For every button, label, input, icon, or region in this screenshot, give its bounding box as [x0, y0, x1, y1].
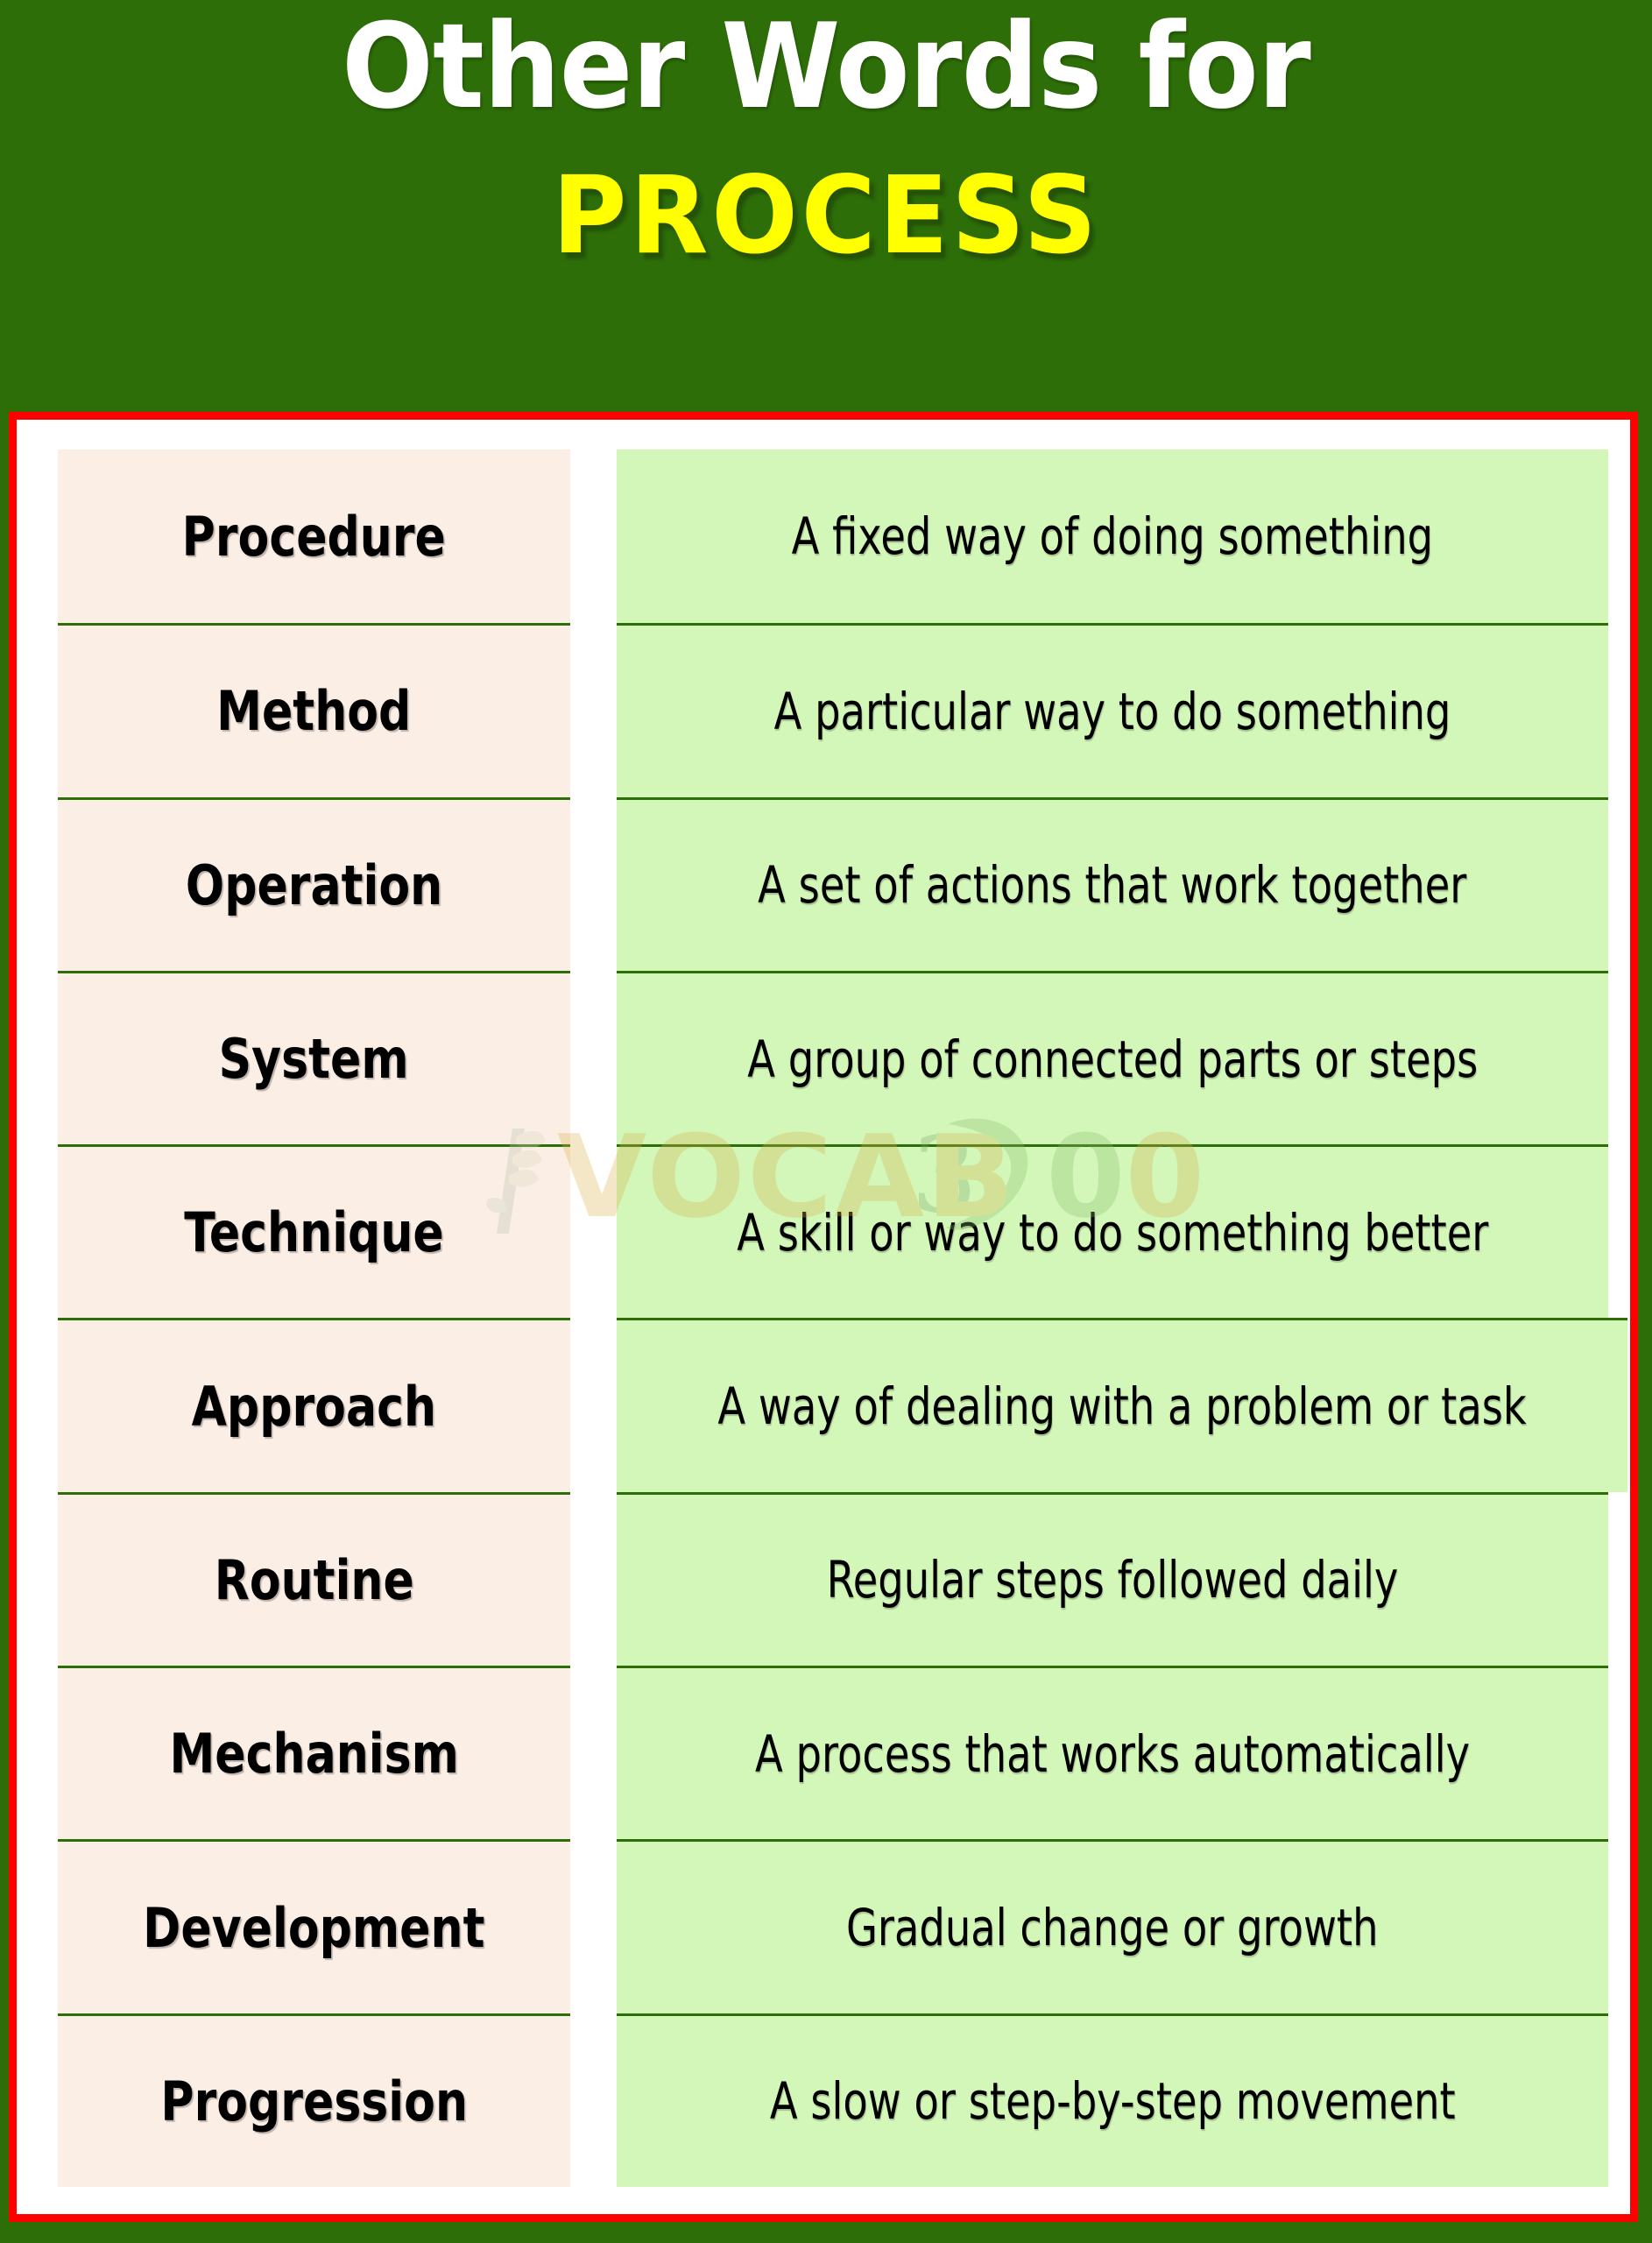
word-label: Procedure	[182, 505, 446, 569]
definition-cell: A way of dealing with a problem or task	[617, 1318, 1627, 1491]
word-cell: System	[58, 971, 570, 1144]
definition-cell: A skill or way to do something better	[617, 1144, 1608, 1318]
word-label: Progression	[160, 2070, 468, 2133]
column-gap	[570, 1318, 617, 1491]
definition-label: A fixed way of doing something	[792, 506, 1434, 566]
table-row: Development Gradual change or growth	[58, 1839, 1608, 2013]
word-cell: Technique	[58, 1144, 570, 1318]
definition-label: A set of actions that work together	[758, 855, 1466, 915]
definition-cell: A fixed way of doing something	[617, 449, 1608, 623]
word-cell: Progression	[58, 2013, 570, 2187]
word-label: Method	[216, 679, 411, 743]
word-cell: Development	[58, 1839, 570, 2013]
table-row: Approach A way of dealing with a problem…	[58, 1318, 1608, 1491]
word-cell: Procedure	[58, 449, 570, 623]
definition-label: A group of connected parts or steps	[747, 1030, 1478, 1089]
column-gap	[570, 623, 617, 796]
word-cell: Approach	[58, 1318, 570, 1491]
definition-label: Gradual change or growth	[846, 1898, 1379, 1957]
synonym-table: Procedure A fixed way of doing something…	[58, 449, 1608, 2187]
word-cell: Routine	[58, 1492, 570, 1666]
table-row: Procedure A fixed way of doing something	[58, 449, 1608, 623]
column-gap	[570, 2013, 617, 2187]
content-frame: Procedure A fixed way of doing something…	[9, 412, 1638, 2222]
definition-cell: A set of actions that work together	[617, 797, 1608, 971]
table-row: Mechanism A process that works automatic…	[58, 1666, 1608, 1839]
table-row: Operation A set of actions that work tog…	[58, 797, 1608, 971]
word-label: Mechanism	[169, 1722, 458, 1786]
definition-cell: A process that works automatically	[617, 1666, 1608, 1839]
word-label: Technique	[184, 1200, 443, 1264]
column-gap	[570, 971, 617, 1144]
definition-label: A process that works automatically	[755, 1724, 1470, 1784]
word-cell: Method	[58, 623, 570, 796]
definition-cell: Regular steps followed daily	[617, 1492, 1608, 1666]
definition-label: Regular steps followed daily	[827, 1550, 1399, 1610]
table-row: Routine Regular steps followed daily	[58, 1492, 1608, 1666]
word-cell: Operation	[58, 797, 570, 971]
definition-cell: Gradual change or growth	[617, 1839, 1608, 2013]
word-cell: Mechanism	[58, 1666, 570, 1839]
definition-label: A skill or way to do something better	[737, 1203, 1488, 1263]
definition-cell: A group of connected parts or steps	[617, 971, 1608, 1144]
column-gap	[570, 1144, 617, 1318]
table-row: Technique A skill or way to do something…	[58, 1144, 1608, 1318]
word-label: Approach	[192, 1375, 436, 1439]
word-label: Routine	[214, 1548, 413, 1612]
definition-label: A slow or step-by-step movement	[770, 2071, 1456, 2131]
word-label: System	[219, 1027, 409, 1091]
word-label: Development	[143, 1896, 484, 1960]
definition-label: A particular way to do something	[774, 682, 1451, 741]
definition-cell: A particular way to do something	[617, 623, 1608, 796]
table-row: Progression A slow or step-by-step movem…	[58, 2013, 1608, 2187]
word-label: Operation	[186, 853, 442, 917]
column-gap	[570, 797, 617, 971]
column-gap	[570, 1492, 617, 1666]
page-title: Other Words for	[342, 5, 1310, 129]
page-subtitle-keyword: PROCESS	[552, 162, 1099, 269]
table-row: Method A particular way to do something	[58, 623, 1608, 796]
column-gap	[570, 449, 617, 623]
definition-cell: A slow or step-by-step movement	[617, 2013, 1608, 2187]
table-row: System A group of connected parts or ste…	[58, 971, 1608, 1144]
poster-header: Other Words for PROCESS	[0, 0, 1652, 412]
column-gap	[570, 1839, 617, 2013]
column-gap	[570, 1666, 617, 1839]
definition-label: A way of dealing with a problem or task	[717, 1376, 1526, 1436]
